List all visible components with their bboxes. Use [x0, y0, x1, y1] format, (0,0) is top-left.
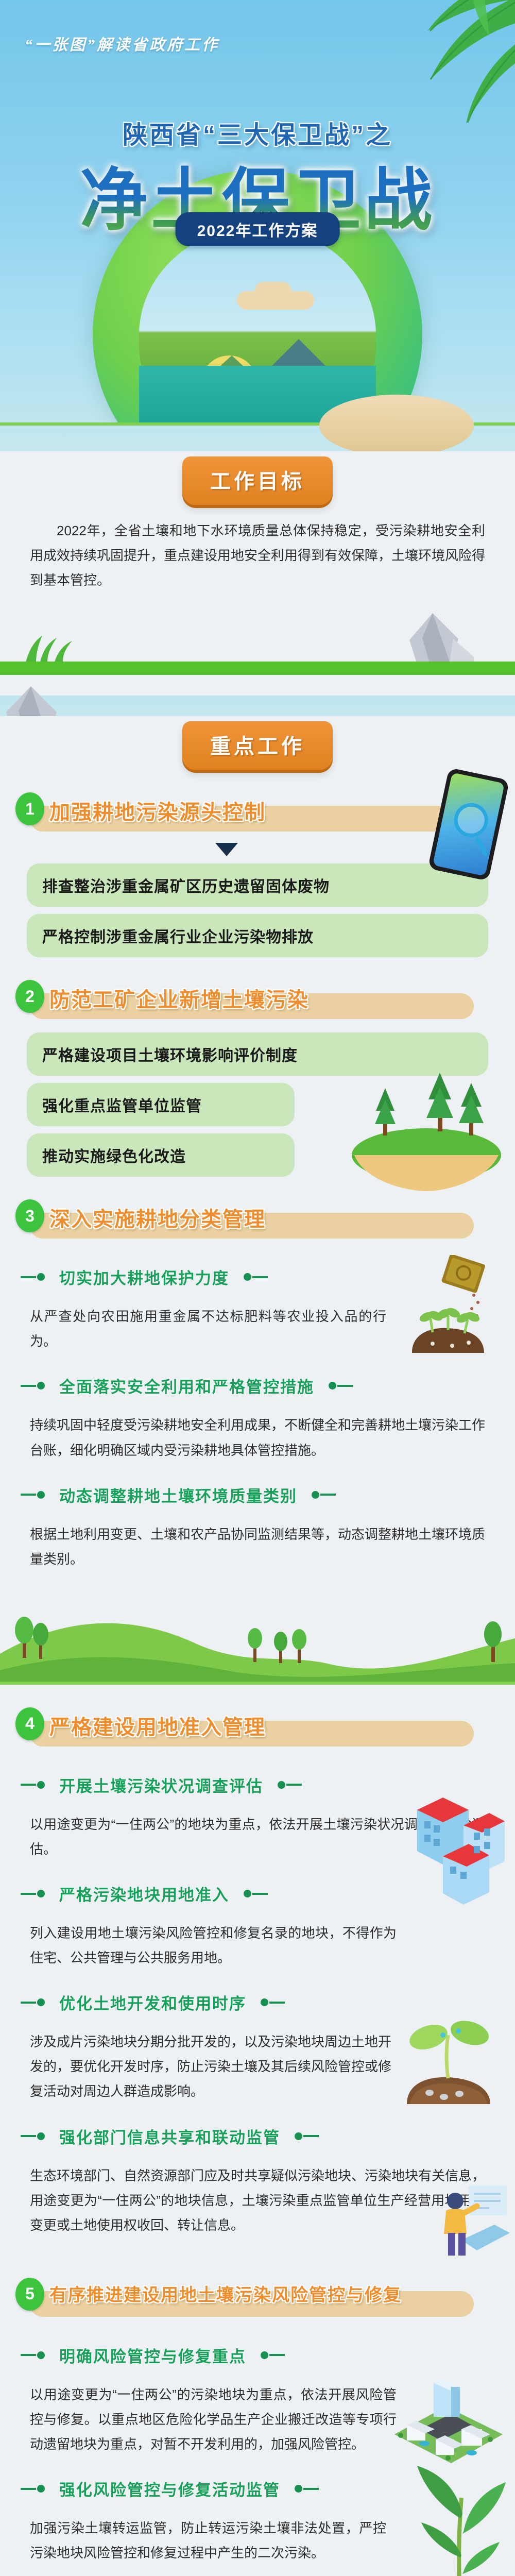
section-5-header: 5 有序推进建设用地土壤污染风险管控与修复	[0, 2274, 515, 2323]
section-5-body-1: 以用途变更为“一住两公”的污染地块为重点，依法开展风险管控与修复。以重点地区危险…	[0, 2369, 515, 2462]
section-2-header: 2 防范工矿企业新增土壤污染	[0, 976, 515, 1025]
section-3-sub-3: 动态调整耕地土壤环境质量类别	[0, 1468, 515, 1509]
section-4-sub-1: 开展土壤污染状况调查评估	[0, 1758, 515, 1799]
bullet-trail-icon	[295, 2132, 319, 2140]
bullet-lead-icon	[21, 1491, 45, 1499]
section-2-box-2: 强化重点监管单位监管	[27, 1083, 295, 1126]
section-3-sub-1: 切实加大耕地保护力度	[0, 1250, 515, 1291]
section-3-body-2: 持续巩固中轻度受污染耕地安全利用成果，不断健全和完善耕地土壤污染工作台账，细化明…	[0, 1399, 515, 1467]
key-work-heading: 重点工作	[182, 721, 333, 770]
section-4-number: 4	[15, 1707, 44, 1740]
section-4-body-4: 生态环境部门、自然资源部门应及时共享疑似污染地块、污染地块有关信息，用途变更为“…	[0, 2150, 515, 2243]
section-3-sub-1-title: 切实加大耕地保护力度	[59, 1265, 229, 1289]
section-5-number: 5	[15, 2278, 44, 2311]
forest-island-illustration	[349, 1067, 504, 1199]
section-3-body-3: 根据土地利用变更、土壤和农产品协同监测结果等，动态调整耕地土壤环境质量类别。	[0, 1509, 515, 1577]
section-5-sub-1-title: 明确风险管控与修复重点	[59, 2344, 246, 2367]
bullet-lead-icon	[21, 2351, 45, 2359]
section-2-title: 防范工矿企业新增土壤污染	[49, 983, 309, 1013]
section-2-box-3: 推动实施绿色化改造	[27, 1133, 295, 1177]
section-3-sub-2: 全面落实安全利用和严格管控措施	[0, 1359, 515, 1399]
bullet-lead-icon	[21, 2485, 45, 2493]
goal-paragraph: 2022年，全省土壤和地下水环境质量总体保持稳定，受污染耕地安全利用成效持续巩固…	[0, 505, 515, 598]
bullet-lead-icon	[21, 1781, 45, 1789]
section-1-number: 1	[15, 792, 44, 825]
section-5-sub-3: 加强从业单位和个人信用管理	[0, 2570, 515, 2576]
section-4-sub-4-title: 强化部门信息共享和联动监管	[59, 2125, 280, 2148]
goal-section: 工作目标 2022年，全省土壤和地下水环境质量总体保持稳定，受污染耕地安全利用成…	[0, 451, 515, 696]
bullet-lead-icon	[21, 2132, 45, 2140]
year-badge: 2022年工作方案	[176, 212, 340, 246]
key-work-section: 重点工作 1 加强耕地污染源头控制 排查整治涉重金属矿区历史遗留固体废物 严格控…	[0, 716, 515, 2576]
section-1-title: 加强耕地污染源头控制	[49, 795, 266, 825]
section-1-header: 1 加强耕地污染源头控制	[0, 788, 515, 838]
section-4-header: 4 严格建设用地准入管理	[0, 1703, 515, 1753]
bullet-lead-icon	[21, 1382, 45, 1389]
bullet-lead-icon	[21, 1890, 45, 1897]
bullet-trail-icon	[278, 1781, 302, 1789]
section-4-sub-4: 强化部门信息共享和联动监管	[0, 2109, 515, 2150]
section-5-sub-1: 明确风险管控与修复重点	[0, 2328, 515, 2369]
bullet-trail-icon	[244, 1890, 268, 1897]
section-3-title: 深入实施耕地分类管理	[49, 1202, 266, 1232]
eyebrow-text: “一张图”解读省政府工作	[25, 32, 219, 55]
section-4-body-3: 涉及成片污染地块分期分批开发的，以及污染地块周边土地开发的，要优化开发时序，防止…	[0, 2016, 515, 2109]
bullet-trail-icon	[312, 1491, 336, 1499]
section-4-sub-3-title: 优化土地开发和使用时序	[59, 1991, 246, 2014]
section-5-sub-2: 强化风险管控与修复活动监管	[0, 2462, 515, 2502]
bullet-trail-icon	[261, 2351, 285, 2359]
section-2-box-1: 严格建设项目土壤环境影响评价制度	[27, 1032, 488, 1076]
section-5-sub-2-title: 强化风险管控与修复活动监管	[59, 2477, 280, 2500]
section-4-body-1: 以用途变更为“一住两公”的地块为重点，依法开展土壤污染状况调查和风险评估。	[0, 1799, 515, 1867]
section-3-number: 3	[15, 1199, 44, 1232]
section-4-body-2: 列入建设用地土壤污染风险管控和修复名录的地块，不得作为住宅、公共管理与公共服务用…	[0, 1907, 515, 1975]
section-4-sub-2: 严格污染地块用地准入	[0, 1867, 515, 1907]
bullet-lead-icon	[21, 1273, 45, 1281]
section-2-number: 2	[15, 980, 44, 1013]
section-4-sub-2-title: 严格污染地块用地准入	[59, 1882, 229, 1905]
bullet-lead-icon	[21, 1998, 45, 2006]
section-3-sub-3-title: 动态调整耕地土壤环境质量类别	[59, 1483, 297, 1506]
section-4-sub-1-title: 开展土壤污染状况调查评估	[59, 1773, 263, 1797]
bullet-trail-icon	[244, 1273, 268, 1281]
infographic-page: “一张图”解读省政府工作 陕西省“三大保卫战”之 净土保卫战 2022年工作方案…	[0, 0, 515, 2576]
bullet-trail-icon	[261, 1998, 285, 2006]
bullet-trail-icon	[329, 1382, 353, 1389]
section-5-title: 有序推进建设用地土壤污染风险管控与修复	[49, 2281, 402, 2306]
grass-tuft-icon	[21, 634, 82, 665]
section-3-sub-2-title: 全面落实安全利用和严格管控措施	[59, 1374, 314, 1397]
section-3-body-1: 从严查处向农田施用重金属不达标肥料等农业投入品的行为。	[0, 1291, 515, 1359]
goal-heading: 工作目标	[182, 456, 333, 505]
hills-illustration	[0, 1577, 515, 1685]
hero-banner: “一张图”解读省政府工作 陕西省“三大保卫战”之 净土保卫战 2022年工作方案	[0, 0, 515, 422]
section-4-title: 严格建设用地准入管理	[49, 1710, 266, 1740]
arrow-down-icon	[215, 843, 238, 856]
section-1-box-2: 严格控制涉重金属行业企业污染物排放	[27, 914, 488, 957]
section-3-header: 3 深入实施耕地分类管理	[0, 1195, 515, 1245]
hero-subtitle: 陕西省“三大保卫战”之	[0, 114, 515, 150]
bullet-trail-icon	[295, 2485, 319, 2493]
section-4-sub-3: 优化土地开发和使用时序	[0, 1975, 515, 2016]
section-5-body-2: 加强污染土壤转运监管，防止转运污染土壤非法处置，严控污染地块风险管控和修复过程中…	[0, 2502, 515, 2570]
section-1-box-1: 排查整治涉重金属矿区历史遗留固体废物	[27, 863, 488, 907]
